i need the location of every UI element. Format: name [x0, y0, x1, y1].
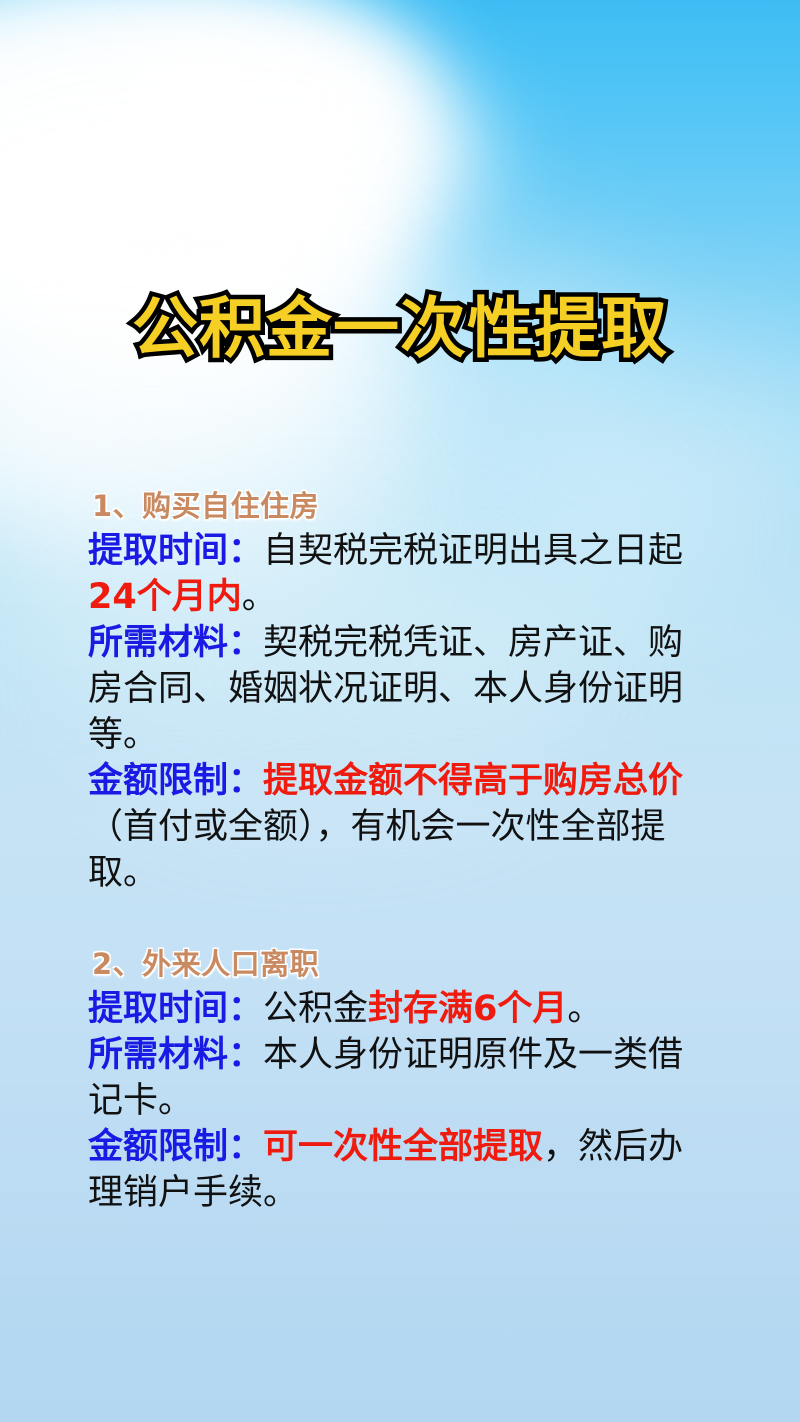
detail-row: 所需材料：本人身份证明原件及一类借记卡。 — [88, 1032, 694, 1124]
section-heading: 2、外来人口离职 — [92, 942, 694, 986]
detail-text: 公积金 — [263, 989, 368, 1029]
detail-text: （首付或全额），有机会一次性全部提取。 — [88, 807, 666, 893]
highlight-text: 可一次性全部提取 — [263, 1127, 543, 1167]
poster-canvas: 公积金一次性提取 1、购买自住住房提取时间：自契税完税证明出具之日起24个月内。… — [0, 0, 800, 1422]
detail-label: 提取时间： — [88, 531, 263, 571]
title-block: 公积金一次性提取 — [0, 296, 800, 362]
detail-row: 提取时间：自契税完税证明出具之日起24个月内。 — [88, 528, 694, 620]
cloud-shape — [0, 0, 430, 290]
detail-text: 自契税完税证明出具之日起 — [263, 531, 683, 571]
detail-label: 提取时间： — [88, 989, 263, 1029]
detail-text: 。 — [567, 989, 602, 1029]
detail-label: 金额限制： — [88, 1127, 263, 1167]
content-body: 1、购买自住住房提取时间：自契税完税证明出具之日起24个月内。所需材料：契税完税… — [88, 484, 694, 1216]
detail-label: 金额限制： — [88, 761, 263, 801]
detail-row: 金额限制：可一次性全部提取，然后办理销户手续。 — [88, 1124, 694, 1216]
cloud-shape — [230, 70, 490, 240]
detail-row: 提取时间：公积金封存满6个月。 — [88, 986, 694, 1032]
detail-label: 所需材料： — [88, 1035, 263, 1075]
highlight-text: 24个月内 — [88, 577, 242, 617]
section-heading: 1、购买自住住房 — [92, 484, 694, 528]
content-section: 1、购买自住住房提取时间：自契税完税证明出具之日起24个月内。所需材料：契税完税… — [88, 484, 694, 896]
detail-row: 金额限制：提取金额不得高于购房总价（首付或全额），有机会一次性全部提取。 — [88, 758, 694, 896]
detail-text: 。 — [242, 577, 277, 617]
content-section: 2、外来人口离职提取时间：公积金封存满6个月。所需材料：本人身份证明原件及一类借… — [88, 942, 694, 1216]
page-title: 公积金一次性提取 — [132, 296, 668, 362]
cloud-shape — [120, 10, 420, 190]
highlight-text: 提取金额不得高于购房总价 — [263, 761, 683, 801]
detail-label: 所需材料： — [88, 623, 263, 663]
detail-row: 所需材料：契税完税凭证、房产证、购房合同、婚姻状况证明、本人身份证明等。 — [88, 620, 694, 758]
highlight-text: 封存满6个月 — [368, 989, 567, 1029]
